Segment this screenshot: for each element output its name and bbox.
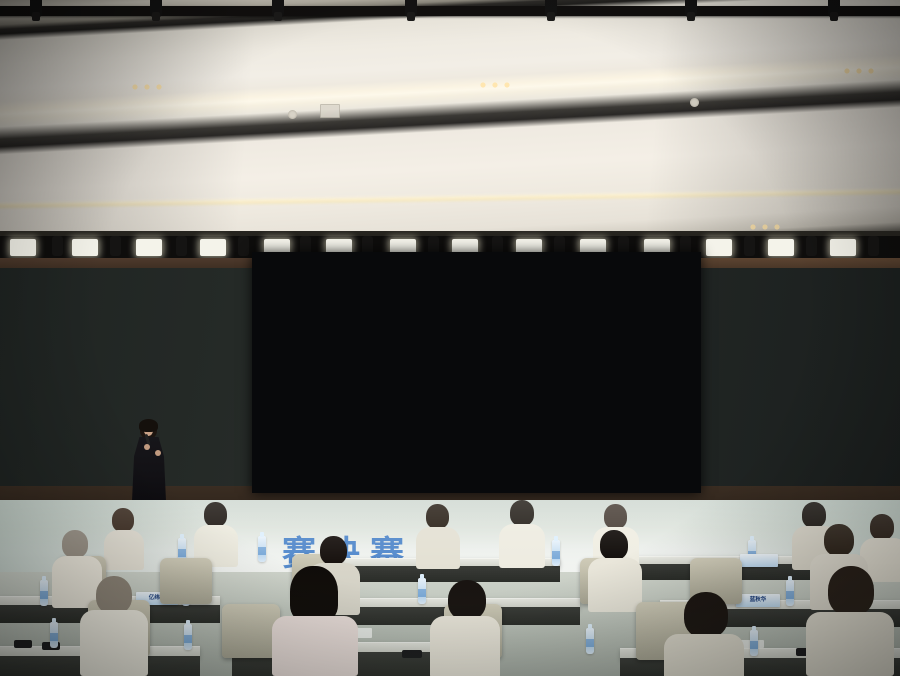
ceiling-shading xyxy=(0,0,900,262)
presenter-hand xyxy=(155,450,161,456)
presenter-hand xyxy=(144,444,150,450)
stage-light-can xyxy=(744,236,755,256)
ceiling xyxy=(0,0,900,262)
stage-light-can xyxy=(52,236,63,256)
stage-light-can xyxy=(238,236,249,256)
stage-lamp xyxy=(200,239,226,256)
presentation-scene: 产品价值及优势 广东卓凡(汕尾)律师事务所 ZHUOFAN (ZE W) LAW… xyxy=(0,0,900,676)
audience-area: 赛决赛 xyxy=(0,500,900,676)
stage-lamp xyxy=(830,239,856,256)
stage-lamp xyxy=(768,239,794,256)
audience-lighting xyxy=(0,500,900,676)
stage-lamp xyxy=(136,239,162,256)
stage-lamp xyxy=(72,239,98,256)
stage-lamp xyxy=(706,239,732,256)
stage-light-can xyxy=(176,236,187,256)
stage-light-can xyxy=(868,236,879,256)
stage-light-can xyxy=(110,236,121,256)
presenter-hair xyxy=(139,419,158,432)
light-rail xyxy=(0,231,900,236)
presenter xyxy=(126,420,172,502)
projection-screen: 产品价值及优势 广东卓凡(汕尾)律师事务所 ZHUOFAN (ZE W) LAW… xyxy=(252,252,701,493)
stage-lamp xyxy=(10,239,36,256)
stage-light-can xyxy=(806,236,817,256)
